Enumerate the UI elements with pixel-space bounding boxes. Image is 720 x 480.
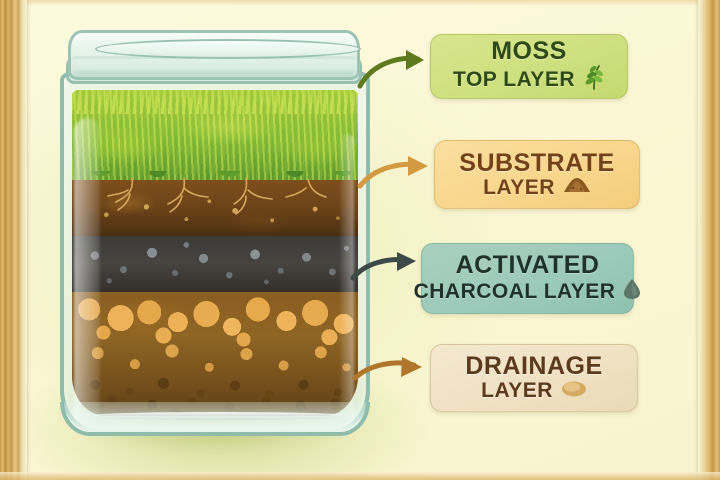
label-drainage-line2: LAYER xyxy=(481,380,553,401)
label-charcoal-line2-row: CHARCOAL LAYER xyxy=(414,278,642,304)
jar-rim xyxy=(68,30,360,80)
substrate-specks xyxy=(72,180,358,236)
label-substrate-layer[interactable]: SUBSTRATE LAYER xyxy=(434,140,640,209)
diagram-canvas: MOSS TOP LAYER SUBSTRATE LAYER xyxy=(0,0,720,480)
arrow-to-drainage-label xyxy=(352,356,432,396)
jar-base-highlight xyxy=(84,412,354,420)
label-substrate-line2-row: LAYER xyxy=(483,176,591,198)
jar-contents xyxy=(72,90,358,416)
glass-jar xyxy=(56,30,366,434)
pebble-icon xyxy=(561,380,587,402)
charcoal-layer xyxy=(72,236,358,292)
charcoal-pebble-icon xyxy=(623,278,641,304)
frame-border-top xyxy=(0,0,720,5)
label-substrate-line1: SUBSTRATE xyxy=(459,151,614,177)
moss-blades xyxy=(72,90,358,114)
label-moss-line2: TOP LAYER xyxy=(453,69,575,90)
label-moss-top-layer[interactable]: MOSS TOP LAYER xyxy=(430,34,628,99)
label-charcoal-line2: CHARCOAL LAYER xyxy=(414,281,616,302)
sprig-leaf-icon xyxy=(583,64,605,94)
soil-mound-icon xyxy=(563,176,591,198)
label-drainage-layer[interactable]: DRAINAGE LAYER xyxy=(430,344,638,412)
substrate-layer xyxy=(72,180,358,236)
moss-layer xyxy=(72,90,358,180)
drainage-layer xyxy=(72,292,358,416)
label-charcoal-line1: ACTIVATED xyxy=(456,253,600,279)
arrow-to-substrate-label xyxy=(356,152,438,196)
charcoal-granules xyxy=(72,236,358,292)
label-substrate-line2: LAYER xyxy=(483,177,555,198)
jar-rim-opening xyxy=(95,39,361,59)
label-drainage-line2-row: LAYER xyxy=(481,380,587,402)
glass-highlight-left xyxy=(74,118,100,434)
jar-body xyxy=(60,70,370,434)
frame-border-left xyxy=(0,0,27,480)
arrow-to-moss-label xyxy=(356,44,434,94)
label-drainage-line1: DRAINAGE xyxy=(465,354,602,380)
label-activated-charcoal-layer[interactable]: ACTIVATED CHARCOAL LAYER xyxy=(421,243,634,314)
frame-border-bottom xyxy=(0,472,720,480)
label-moss-line1: MOSS xyxy=(491,39,567,65)
label-moss-line2-row: TOP LAYER xyxy=(453,64,605,94)
frame-border-right xyxy=(698,0,720,480)
jar-base xyxy=(60,402,370,436)
